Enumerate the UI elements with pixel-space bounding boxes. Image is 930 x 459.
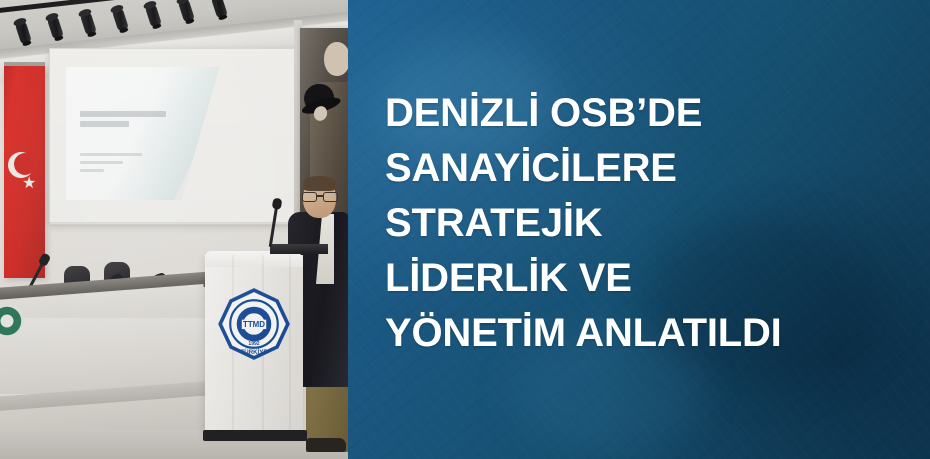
speaker-shoe [306, 438, 346, 452]
glasses-icon [302, 192, 338, 200]
poster-head [324, 42, 348, 76]
screen-shadow [49, 222, 301, 227]
projected-slide [66, 67, 226, 200]
headline-line-3: STRATEJİK [385, 196, 905, 251]
slide-title-text [80, 111, 174, 131]
headline-text: DENİZLİ OSB’DE SANAYİCİLERE STRATEJİK Lİ… [385, 86, 905, 361]
podium-shelf [270, 244, 328, 254]
slide-subtitle-text [80, 153, 150, 177]
ttmd-acronym: TTMD [243, 320, 265, 329]
headline-panel: DENİZLİ OSB’DE SANAYİCİLERE STRATEJİK Lİ… [348, 0, 930, 459]
crescent-cutout [14, 153, 36, 175]
headline-line-5: YÖNETİM ANLATILDI [385, 306, 905, 361]
ttmd-country: TÜRKİYE [241, 349, 268, 356]
headline-line-2: SANAYİCİLERE [385, 141, 905, 196]
ttmd-year: 1992 [248, 341, 259, 347]
headline-line-4: LİDERLİK VE [385, 251, 905, 306]
event-photo: TTMD 1992 TÜRKİYE [0, 0, 348, 459]
podium-base [203, 430, 307, 441]
ttmd-logo: TTMD 1992 TÜRKİYE [218, 288, 290, 360]
headline-line-1: DENİZLİ OSB’DE [385, 86, 905, 141]
turkish-flag [4, 66, 45, 278]
speaker-hair [303, 176, 336, 191]
news-thumbnail-card: TTMD 1992 TÜRKİYE DENİZLİ OSB’DE SANAYİC… [0, 0, 930, 459]
projection-screen [49, 48, 303, 225]
